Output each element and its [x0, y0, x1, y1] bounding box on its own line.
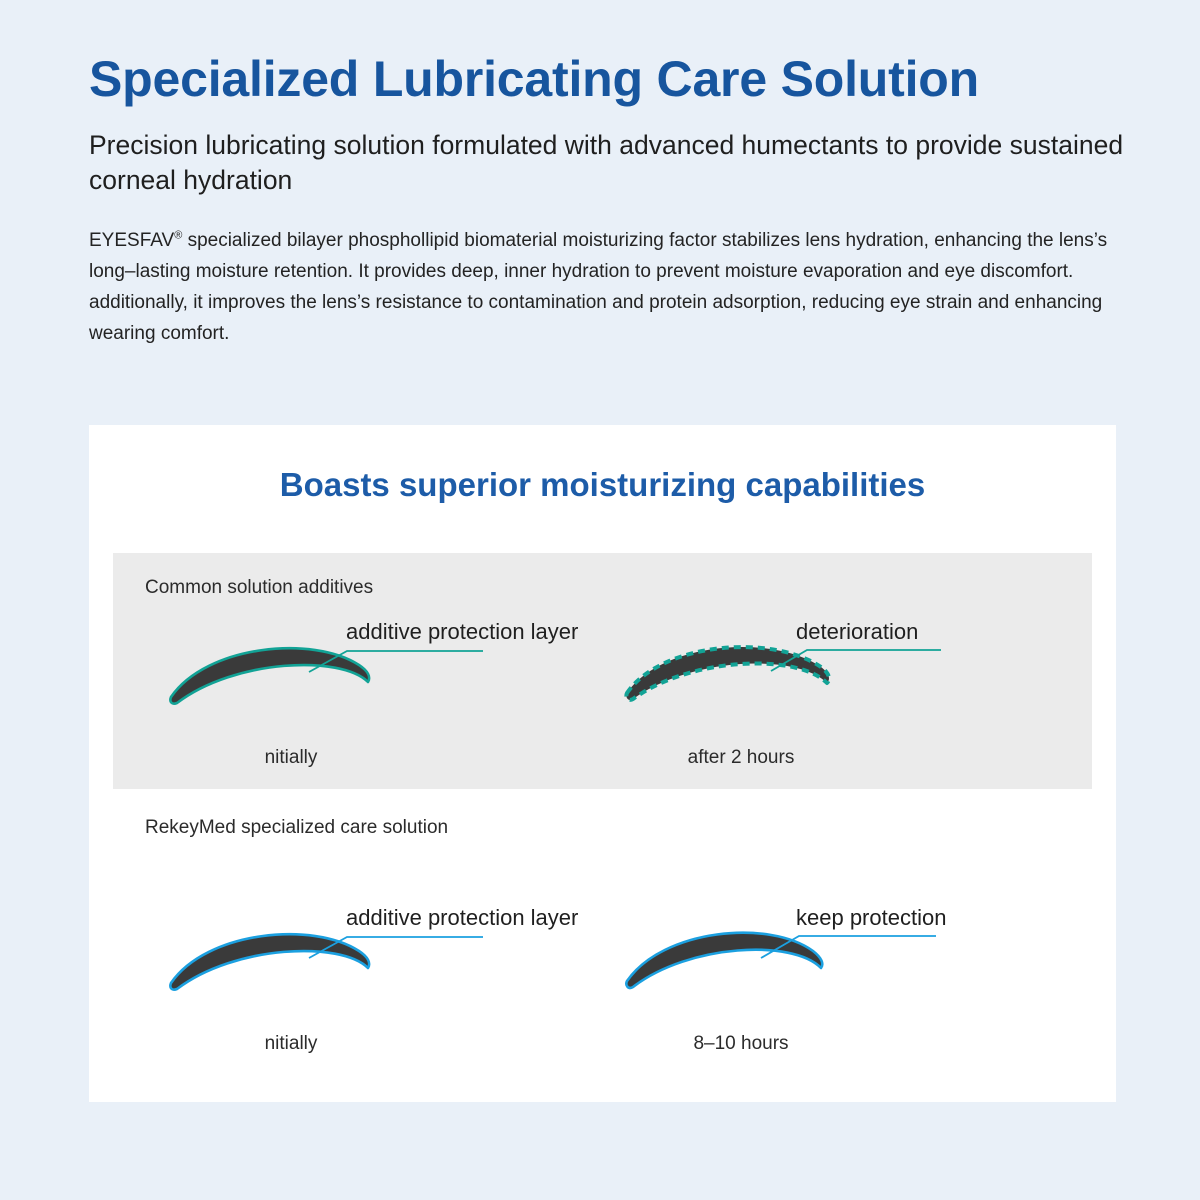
figure-common-initial: additive protection layer nitially: [163, 625, 603, 795]
page-subtitle: Precision lubricating solution formulate…: [89, 128, 1144, 198]
callout-rekeymed-keep-protection: keep protection: [796, 905, 946, 931]
card-heading: Boasts superior moisturizing capabilitie…: [89, 466, 1116, 504]
panel-label-rekeymed: RekeyMed specialized care solution: [145, 817, 448, 839]
body-paragraph: EYESFAV® specialized bilayer phosphollip…: [89, 226, 1129, 349]
caption-common-after-2-hours: after 2 hours: [621, 747, 861, 769]
leader-line: [309, 651, 483, 672]
header-block: Specialized Lubricating Care Solution Pr…: [89, 52, 1149, 350]
leader-line: [309, 937, 483, 958]
brand-name: EYESFAV: [89, 230, 174, 251]
page-title: Specialized Lubricating Care Solution: [89, 52, 1149, 106]
callout-common-initial: additive protection layer: [346, 619, 578, 645]
figure-rekeymed-initial: additive protection layer nitially: [163, 911, 603, 1081]
body-paragraph-text: specialized bilayer phosphollipid biomat…: [89, 230, 1107, 343]
panel-common-solution-additives: Common solution additives additive prote…: [113, 553, 1092, 789]
leader-line: [761, 936, 936, 958]
figure-rekeymed-8-10-hours: keep protection 8–10 hours: [621, 911, 1061, 1081]
panel-label-common: Common solution additives: [145, 577, 373, 599]
caption-common-initial: nitially: [171, 747, 411, 769]
callout-common-deterioration: deterioration: [796, 619, 918, 645]
panel-rekeymed-care-solution: RekeyMed specialized care solution addit…: [113, 789, 1092, 1089]
comparison-card: Boasts superior moisturizing capabilitie…: [89, 425, 1116, 1102]
leader-line: [771, 650, 941, 671]
figure-common-after-2-hours: deterioration after 2 hours: [621, 625, 1061, 795]
caption-rekeymed-8-10-hours: 8–10 hours: [621, 1033, 861, 1055]
callout-rekeymed-initial: additive protection layer: [346, 905, 578, 931]
caption-rekeymed-initial: nitially: [171, 1033, 411, 1055]
